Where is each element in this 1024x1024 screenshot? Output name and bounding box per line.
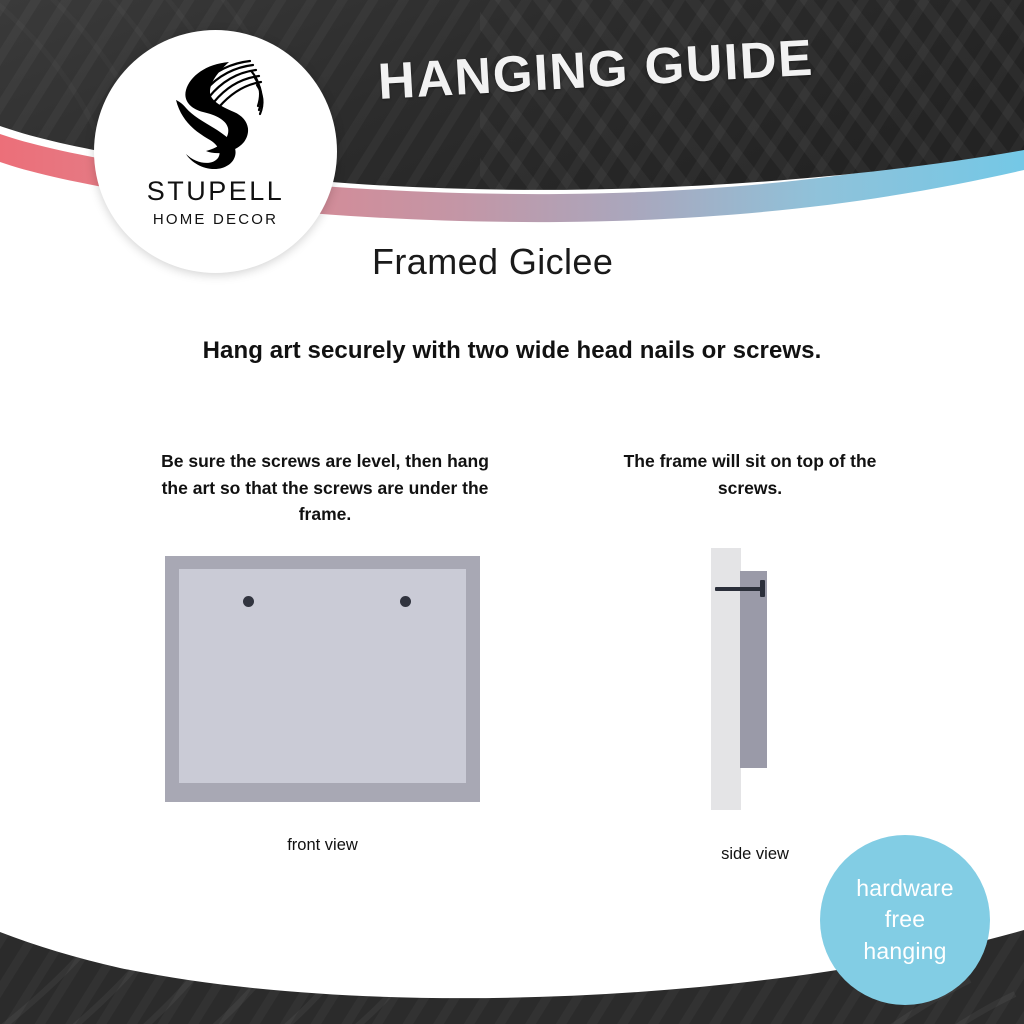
badge-line-1: hardware [856, 873, 954, 904]
product-type-heading: Framed Giclee [372, 241, 613, 283]
logo-brand-subtitle: HOME DECOR [153, 212, 278, 227]
screw-dot-right-icon [400, 596, 411, 607]
badge-line-3: hanging [863, 936, 946, 967]
main-instruction-text: Hang art securely with two wide head nai… [0, 337, 1024, 365]
front-view-diagram [165, 556, 480, 802]
nail-shaft-icon [715, 587, 765, 591]
front-view-caption: Be sure the screws are level, then hang … [160, 448, 490, 528]
screw-dot-left-icon [243, 596, 254, 607]
page-title: HANGING GUIDE [376, 28, 815, 111]
nail-head-icon [760, 580, 765, 597]
front-view-mat [179, 569, 466, 783]
side-view-frame [740, 571, 767, 768]
badge-line-2: free [885, 904, 925, 935]
hanging-guide-page: STUPELL HOME DECOR HANGING GUIDE Framed … [0, 0, 1024, 1024]
side-view-caption: The frame will sit on top of the screws. [600, 448, 900, 501]
stupell-swirl-s-icon [156, 52, 276, 172]
side-view-label: side view [668, 845, 842, 864]
hardware-free-hanging-badge: hardware free hanging [820, 835, 990, 1005]
logo-brand-name: STUPELL [147, 178, 285, 205]
brand-logo-badge: STUPELL HOME DECOR [94, 30, 337, 273]
front-view-label: front view [165, 836, 480, 855]
side-view-diagram [700, 545, 810, 815]
